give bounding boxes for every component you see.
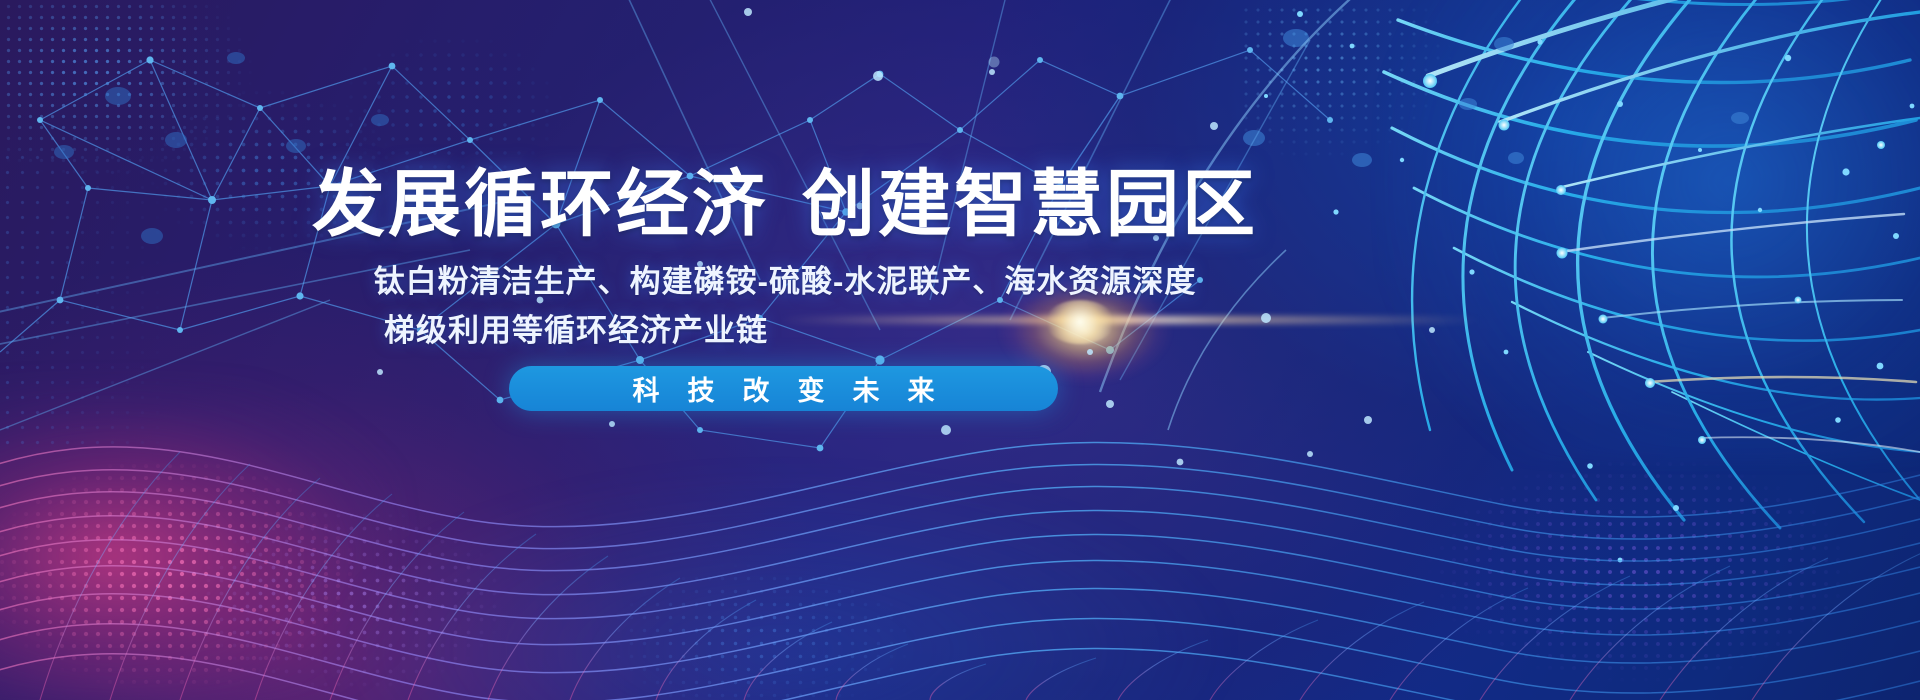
banner-root: 发展循环经济创建智慧园区 钛白粉清洁生产、构建磷铵-硫酸-水泥联产、海水资源深度… — [0, 0, 1920, 700]
banner-subtitle: 钛白粉清洁生产、构建磷铵-硫酸-水泥联产、海水资源深度 梯级利用等循环经济产业链 — [0, 258, 1570, 356]
title-part-1: 发展循环经济 — [312, 164, 768, 245]
subtitle-line-1: 钛白粉清洁生产、构建磷铵-硫酸-水泥联产、海水资源深度 — [0, 258, 1570, 307]
cta-button[interactable]: 科技改变未来 — [509, 366, 1058, 411]
title-part-2: 创建智慧园区 — [802, 164, 1258, 245]
banner-content: 发展循环经济创建智慧园区 钛白粉清洁生产、构建磷铵-硫酸-水泥联产、海水资源深度… — [0, 0, 1920, 700]
cta-button-label: 科技改变未来 — [605, 369, 963, 408]
subtitle-line-2: 梯级利用等循环经济产业链 — [0, 307, 1570, 356]
page-title: 发展循环经济创建智慧园区 — [0, 166, 1570, 243]
